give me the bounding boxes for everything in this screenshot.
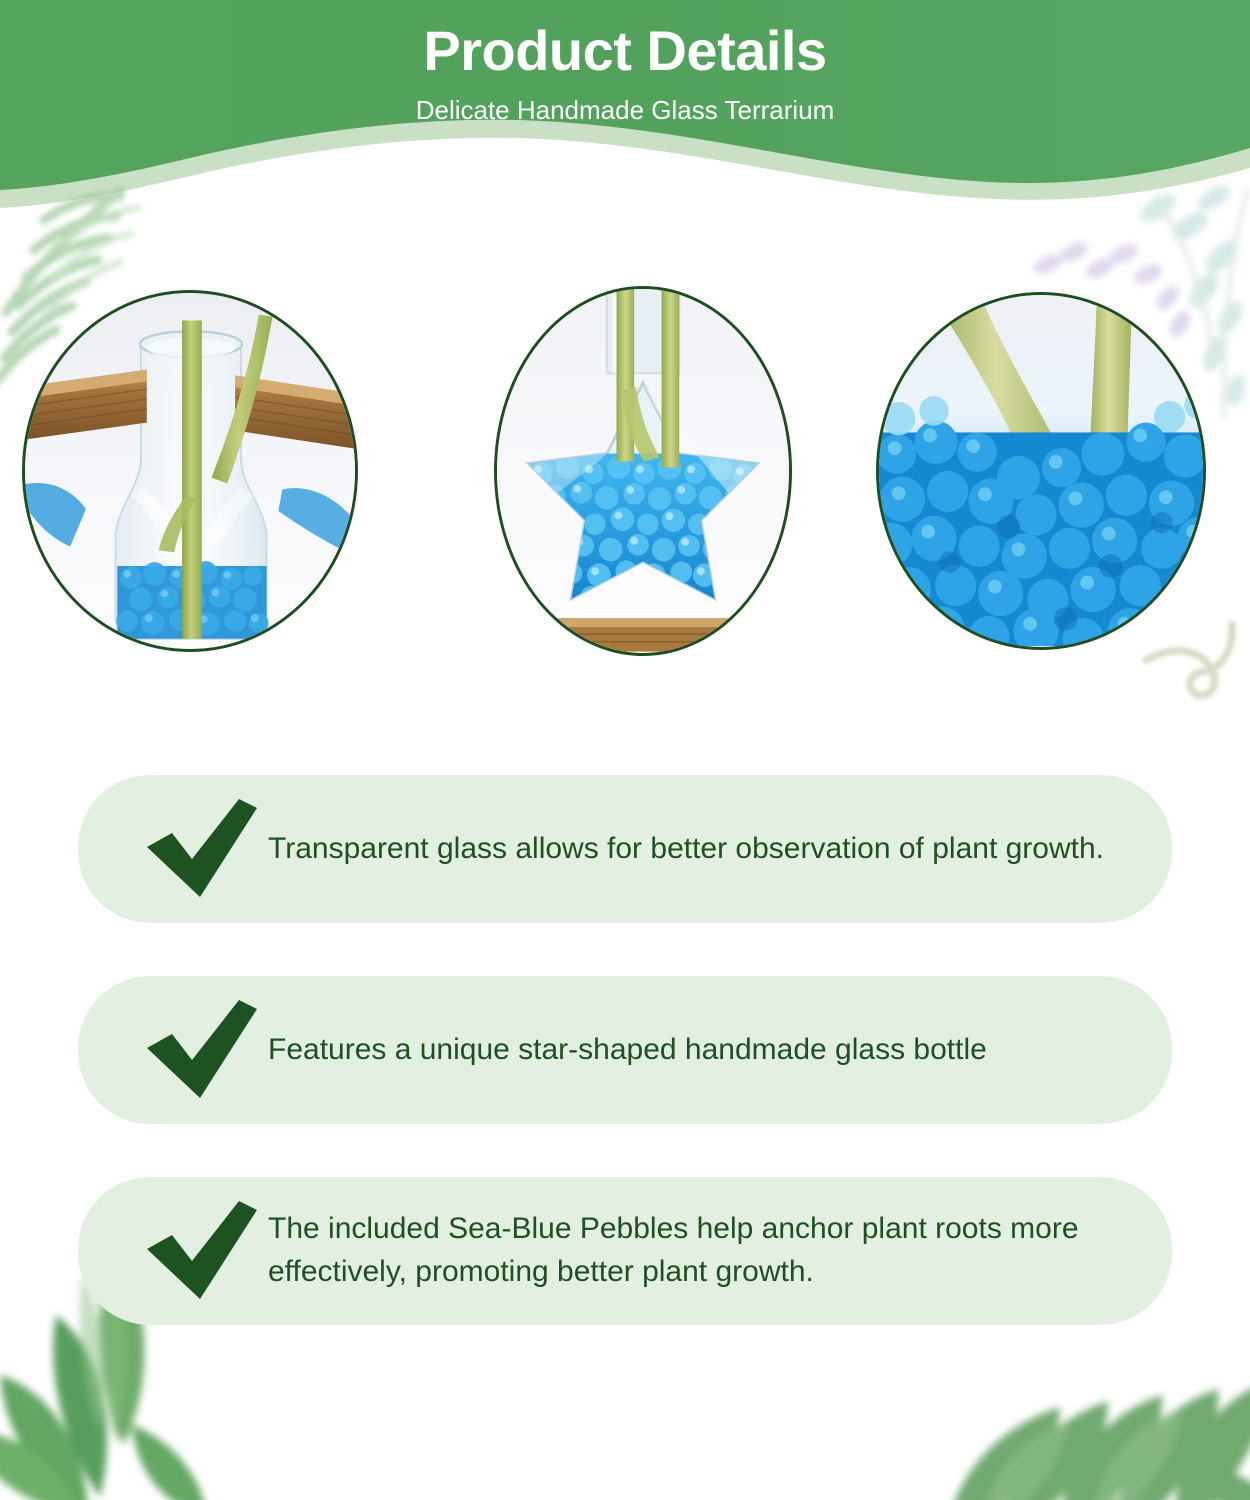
feature-item-3: The included Sea-Blue Pebbles help ancho…: [78, 1177, 1172, 1325]
gallery-image-2-star-shaped-glass-bottle[interactable]: [494, 286, 792, 656]
star-shaped-glass-bottle-photo: [497, 289, 789, 652]
feature-text-2: Features a unique star-shaped handmade g…: [268, 1029, 1172, 1072]
feature-item-1: Transparent glass allows for better obse…: [78, 775, 1172, 923]
sea-blue-pebbles-closeup-photo: [879, 295, 1203, 646]
gallery-image-1-glass-vase-on-wood-stand[interactable]: [22, 290, 358, 652]
feature-text-1: Transparent glass allows for better obse…: [268, 828, 1172, 871]
check-icon: [138, 998, 268, 1102]
feature-item-2: Features a unique star-shaped handmade g…: [78, 976, 1172, 1124]
check-icon: [138, 797, 268, 901]
product-details-page: Product Details Delicate Handmade Glass …: [0, 0, 1250, 1500]
gallery-image-3-sea-blue-pebbles-closeup[interactable]: [876, 292, 1206, 650]
check-icon: [138, 1199, 268, 1303]
feature-list: Transparent glass allows for better obse…: [0, 775, 1250, 1325]
monstera-leaf-icon: [930, 1325, 1250, 1500]
glass-vase-on-wood-stand-photo: [25, 293, 355, 649]
check-icon-glyph: [145, 797, 261, 901]
check-icon-glyph: [145, 1199, 261, 1303]
feature-text-3: The included Sea-Blue Pebbles help ancho…: [268, 1208, 1172, 1293]
product-image-gallery: [0, 286, 1250, 662]
check-icon-glyph: [145, 998, 261, 1102]
page-header: Product Details Delicate Handmade Glass …: [0, 0, 1250, 240]
page-title: Product Details: [0, 22, 1250, 81]
page-subtitle: Delicate Handmade Glass Terrarium: [0, 95, 1250, 126]
